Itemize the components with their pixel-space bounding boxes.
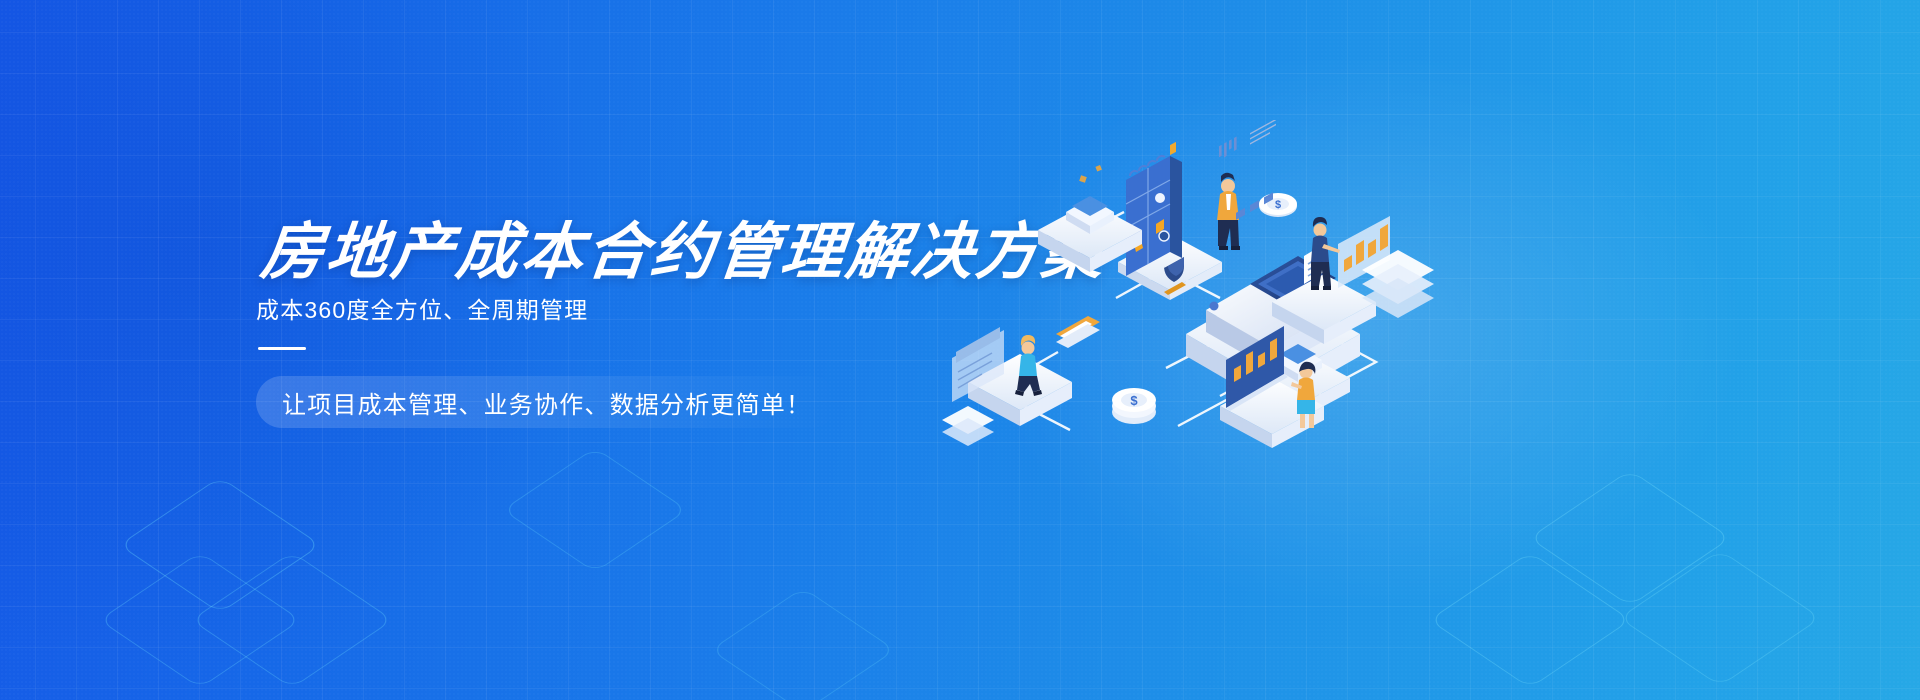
- hero-subtitle: 成本360度全方位、全周期管理: [256, 297, 588, 325]
- person-with-tie-figure: [1217, 173, 1240, 250]
- hero-illustration: $: [920, 120, 1440, 450]
- hero-tagline-pill: 让项目成本管理、业务协作、数据分析更简单！: [256, 376, 837, 428]
- stacked-paper-sheets-small-icon: [942, 406, 994, 446]
- svg-text:$: $: [1275, 199, 1281, 211]
- svg-text:$: $: [1130, 393, 1138, 408]
- hero-banner: 房地产成本合约管理解决方案 成本360度全方位、全周期管理 让项目成本管理、业务…: [0, 0, 1920, 700]
- hero-copy-block: 房地产成本合约管理解决方案 成本360度全方位、全周期管理 让项目成本管理、业务…: [0, 0, 1000, 700]
- laptop-device-icon: [1056, 316, 1100, 348]
- rhombus-decor-icon: [1619, 550, 1822, 687]
- dollar-coin-stack-top: $: [1259, 193, 1297, 217]
- title-divider: [258, 347, 306, 350]
- hero-tagline-text: 让项目成本管理、业务协作、数据分析更简单！: [282, 385, 811, 420]
- person-presenting-figure: [1311, 217, 1340, 290]
- rhombus-decor-icon: [1429, 552, 1632, 689]
- rhombus-decor-icon: [1529, 470, 1732, 607]
